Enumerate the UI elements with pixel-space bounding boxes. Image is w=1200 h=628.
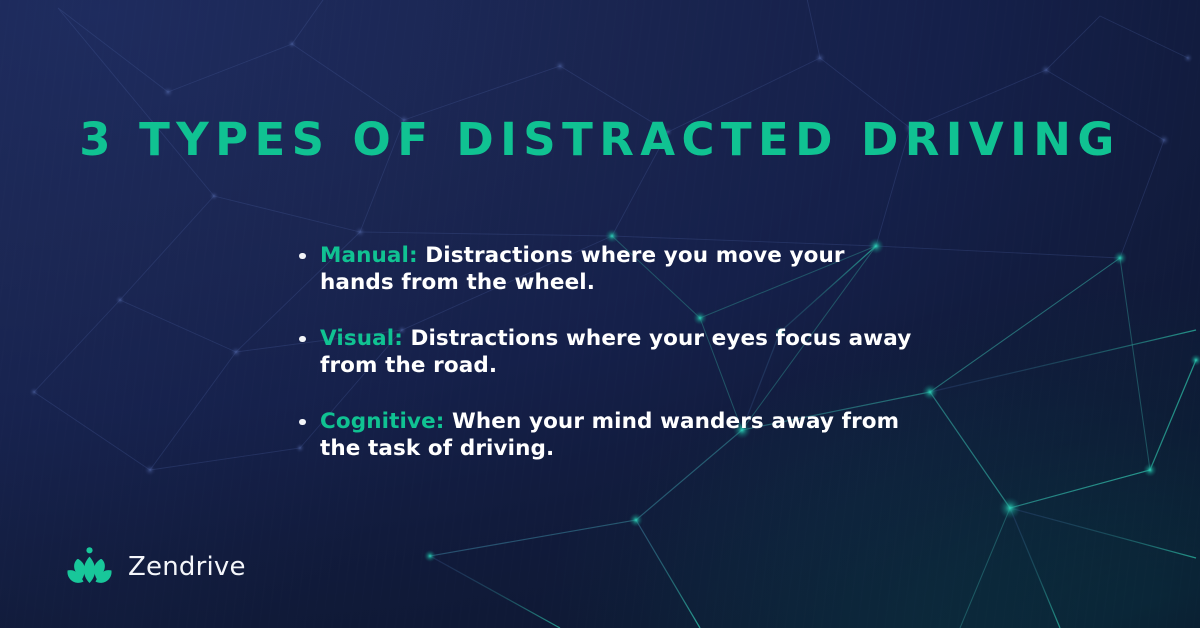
- lotus-icon: [66, 547, 113, 587]
- list-item: Cognitive: When your mind wanders away f…: [296, 409, 916, 462]
- slide-canvas: 3 TYPES OF DISTRACTED DRIVING Manual: Di…: [0, 0, 1200, 628]
- bullet-dot-icon: [299, 419, 306, 426]
- bullet-dot-icon: [299, 336, 306, 343]
- bullet-label: Manual:: [320, 243, 418, 268]
- page-title: 3 TYPES OF DISTRACTED DRIVING: [0, 116, 1200, 165]
- list-item: Manual: Distractions where you move your…: [296, 243, 916, 296]
- brand-name: Zendrive: [128, 554, 246, 580]
- bullet-list: Manual: Distractions where you move your…: [296, 243, 916, 462]
- brand-logo: Zendrive: [66, 547, 246, 587]
- bullet-dot-icon: [299, 253, 306, 260]
- slide-content: 3 TYPES OF DISTRACTED DRIVING Manual: Di…: [0, 0, 1200, 628]
- bullet-label: Cognitive:: [320, 409, 444, 434]
- list-item: Visual: Distractions where your eyes foc…: [296, 326, 916, 379]
- bullet-text: Distractions where your eyes focus away …: [320, 326, 911, 378]
- bullet-label: Visual:: [320, 326, 403, 351]
